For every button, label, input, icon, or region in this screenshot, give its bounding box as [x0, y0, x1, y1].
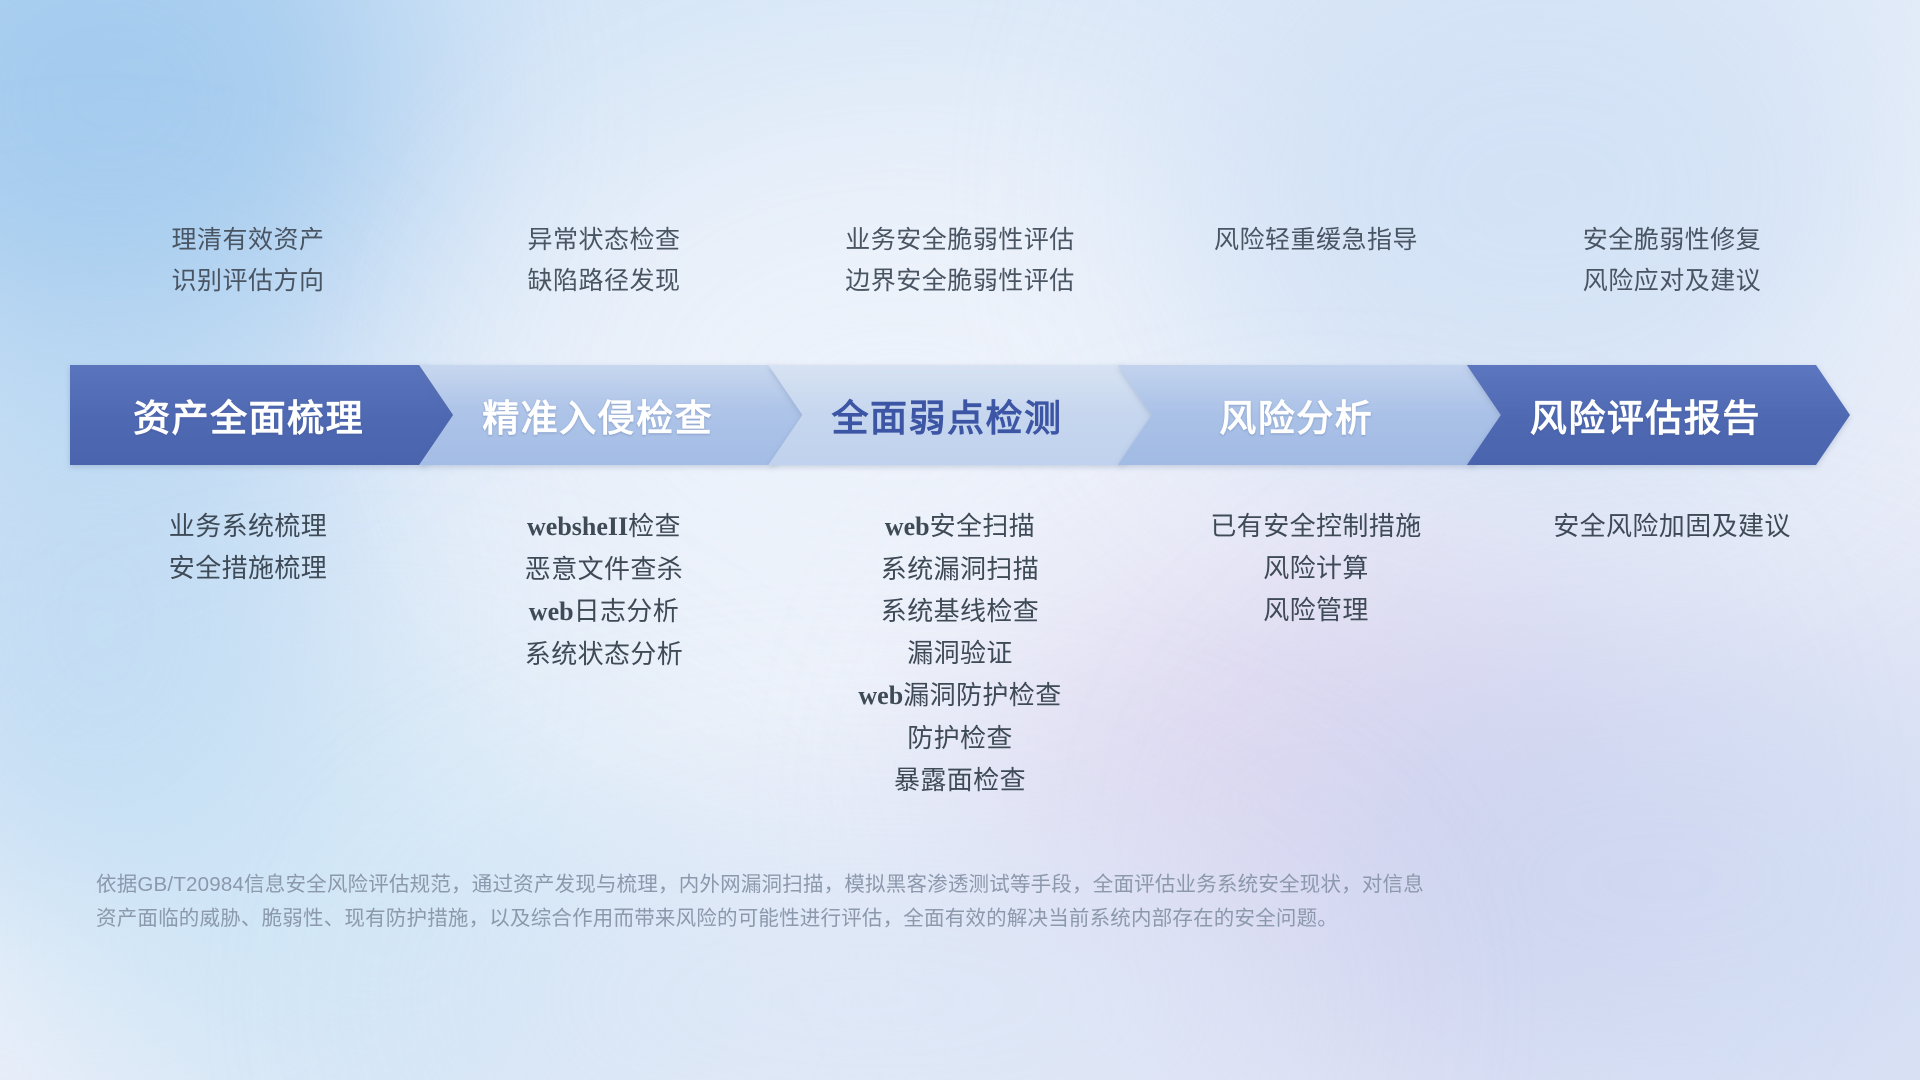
chevron-label: 全面弱点检测 [832, 388, 1063, 442]
bottom-details-risk-report: 安全风险加固及建议 [1494, 513, 1850, 539]
top-caption-line: 风险轻重缓急指导 [1214, 228, 1418, 253]
detail-item: 暴露面检查 [894, 767, 1026, 793]
detail-item: 漏洞验证 [907, 640, 1013, 666]
detail-item: web日志分析 [529, 598, 679, 625]
top-caption-line: 风险应对及建议 [1583, 269, 1762, 294]
latin-token: web [885, 512, 930, 541]
top-captions-intrusion-check: 异常状态检查 缺陷路径发现 [426, 228, 782, 294]
detail-item: 已有安全控制措施 [1210, 513, 1421, 539]
bottom-details-asset-inventory: 业务系统梳理 安全措施梳理 [70, 513, 426, 581]
top-captions-risk-analysis: 风险轻重缓急指导 [1138, 228, 1494, 253]
detail-item: 安全措施梳理 [169, 555, 327, 581]
chevron-step-weakness-detection[interactable]: 全面弱点检测 [768, 365, 1151, 465]
detail-item: 恶意文件查杀 [525, 556, 683, 582]
latin-token: web [858, 681, 903, 710]
top-caption-line: 安全脆弱性修复 [1583, 228, 1762, 253]
top-caption-line: 异常状态检查 [527, 228, 680, 253]
detail-item: 安全风险加固及建议 [1553, 513, 1791, 539]
chevron-step-asset-inventory[interactable]: 资产全面梳理 [70, 365, 453, 465]
bottom-details-row: 业务系统梳理 安全措施梳理 websheII检查 恶意文件查杀 web日志分析 … [70, 513, 1850, 793]
latin-token: web [529, 597, 574, 626]
top-caption-line: 缺陷路径发现 [527, 269, 680, 294]
chevron-step-risk-analysis[interactable]: 风险分析 [1118, 365, 1501, 465]
latin-token: websheII [527, 512, 628, 541]
footer-line-2: 资产面临的威胁、脆弱性、现有防护措施，以及综合作用而带来风险的可能性进行评估，全… [96, 902, 1740, 936]
footer-description: 依据GB/T20984信息安全风险评估规范，通过资产发现与梳理，内外网漏洞扫描，… [96, 868, 1740, 936]
detail-item: 防护检查 [907, 725, 1013, 751]
chevron-step-risk-report[interactable]: 风险评估报告 [1467, 365, 1850, 465]
top-caption-line: 识别评估方向 [171, 269, 324, 294]
chevron-label: 风险分析 [1219, 388, 1373, 442]
footer-line-1: 依据GB/T20984信息安全风险评估规范，通过资产发现与梳理，内外网漏洞扫描，… [96, 868, 1740, 902]
detail-item: web安全扫描 [885, 513, 1035, 540]
detail-item: 业务系统梳理 [169, 513, 327, 539]
detail-item: web漏洞防护检查 [858, 682, 1061, 709]
chevron-label: 资产全面梳理 [133, 388, 364, 442]
top-caption-line: 边界安全脆弱性评估 [845, 269, 1075, 294]
top-caption-line: 理清有效资产 [171, 228, 324, 253]
top-captions-asset-inventory: 理清有效资产 识别评估方向 [70, 228, 426, 294]
top-captions-weakness-detection: 业务安全脆弱性评估 边界安全脆弱性评估 [782, 228, 1138, 294]
top-captions-risk-report: 安全脆弱性修复 风险应对及建议 [1494, 228, 1850, 294]
top-captions-row: 理清有效资产 识别评估方向 异常状态检查 缺陷路径发现 业务安全脆弱性评估 边界… [70, 228, 1850, 294]
detail-item: 风险管理 [1263, 597, 1369, 623]
detail-item: 系统漏洞扫描 [881, 556, 1039, 582]
process-chevron-bar: 资产全面梳理 精准入侵检查 全面弱点检测 风险分析 风险评估报告 [70, 365, 1850, 465]
chevron-label: 风险评估报告 [1530, 388, 1761, 442]
detail-item: 系统状态分析 [525, 641, 683, 667]
detail-item: 系统基线检查 [881, 598, 1039, 624]
bottom-details-weakness-detection: web安全扫描 系统漏洞扫描 系统基线检查 漏洞验证 web漏洞防护检查 防护检… [782, 513, 1138, 793]
bottom-details-intrusion-check: websheII检查 恶意文件查杀 web日志分析 系统状态分析 [426, 513, 782, 667]
process-diagram: 理清有效资产 识别评估方向 异常状态检查 缺陷路径发现 业务安全脆弱性评估 边界… [0, 0, 1920, 1080]
detail-item: websheII检查 [527, 513, 681, 540]
bottom-details-risk-analysis: 已有安全控制措施 风险计算 风险管理 [1138, 513, 1494, 623]
chevron-step-intrusion-check[interactable]: 精准入侵检查 [419, 365, 802, 465]
chevron-label: 精准入侵检查 [482, 388, 713, 442]
detail-item: 风险计算 [1263, 555, 1369, 581]
top-caption-line: 业务安全脆弱性评估 [845, 228, 1075, 253]
